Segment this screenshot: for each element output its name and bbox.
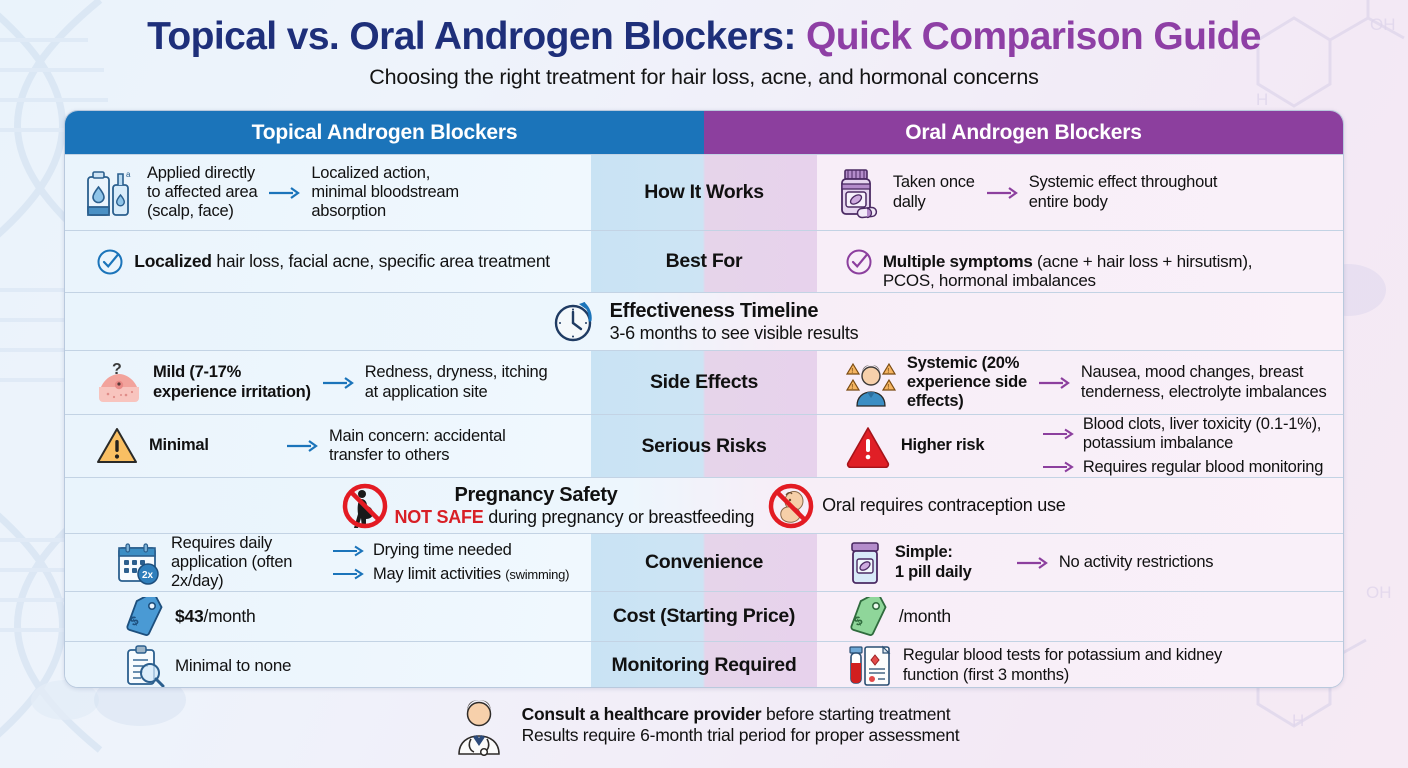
row-label-text: How It Works — [644, 181, 764, 204]
oral-best-for-bold: Multiple symptoms — [883, 252, 1033, 271]
table-row: Minimal Main concern: accidental transfe… — [65, 414, 1343, 477]
svg-text:H: H — [1256, 90, 1268, 109]
svg-text:!: ! — [887, 368, 889, 375]
danger-triangle-icon — [845, 424, 891, 468]
cell-oral-convenience: Simple: 1 pill daily No activity restric… — [817, 534, 1343, 591]
row-label-best-for: Best For — [591, 231, 817, 292]
cell-oral-side-effects: ! ! ! ! Systemic (20% experience side ef… — [817, 351, 1343, 414]
oral-cost-unit: /month — [899, 606, 951, 626]
arrow-right-icon — [1041, 460, 1075, 474]
topical-risk-b: Main concern: accidental transfer to oth… — [329, 427, 506, 466]
oral-how-step2: Systemic effect throughout entire body — [1029, 173, 1218, 212]
row-label-text: Side Effects — [650, 371, 758, 394]
oral-side-effect-a: Systemic (20% experience side effects) — [907, 354, 1027, 412]
pregnancy-title: Pregnancy Safety — [454, 484, 617, 507]
footer-note: Consult a healthcare provider before sta… — [0, 694, 1408, 756]
arrow-right-icon — [267, 184, 301, 202]
arrow-right-icon — [331, 567, 365, 581]
oral-how-step1: Taken once dally — [893, 173, 975, 212]
page-title-part2: Quick Comparison Guide — [806, 15, 1261, 58]
cell-topical-how-it-works: a Applied directly to affected area (sca… — [65, 155, 591, 230]
oral-risk-a: Higher risk — [901, 436, 1031, 455]
footer-line-1: Consult a healthcare provider before sta… — [522, 704, 960, 725]
topical-convenience-a: Requires daily application (often 2x/day… — [171, 534, 321, 592]
pill-bottle-icon — [833, 165, 883, 221]
svg-text:!: ! — [851, 368, 853, 375]
row-label-text: Serious Risks — [641, 435, 766, 458]
topical-convenience-c-note: (swimming) — [505, 567, 569, 582]
topical-convenience-c: May limit activities (swimming) — [373, 565, 569, 584]
svg-text:!: ! — [851, 384, 853, 391]
row-label-text: Cost (Starting Price) — [613, 605, 795, 628]
timeline-title: Effectiveness Timeline — [610, 300, 859, 323]
no-baby-icon — [768, 483, 814, 529]
table-header-row: Topical Androgen Blockers Oral Androgen … — [65, 111, 1343, 154]
topical-best-for-bold: Localized — [134, 251, 212, 271]
banner-effectiveness-timeline: Effectiveness Timeline 3-6 months to see… — [65, 292, 1343, 350]
arrow-right-icon — [1041, 427, 1075, 441]
timeline-subtitle: 3-6 months to see visible results — [610, 323, 859, 344]
footer-line-2: Results require 6-month trial period for… — [522, 725, 960, 746]
banner-pregnancy-safety: Pregnancy Safety NOT SAFE during pregnan… — [65, 477, 1343, 533]
table-row: $ $43/month Cost (Starting Price) $ — [65, 591, 1343, 641]
pregnancy-subtitle: NOT SAFE during pregnancy or breastfeedi… — [394, 507, 754, 528]
topical-convenience-c-main: May limit activities — [373, 565, 501, 583]
oral-side-effect-b: Nausea, mood changes, breast tenderness,… — [1081, 363, 1327, 402]
cell-oral-how-it-works: Taken once dally Systemic effect through… — [817, 155, 1343, 230]
topical-convenience-b: Drying time needed — [373, 541, 512, 560]
topical-side-effect-a: Mild (7-17% experience irritation) — [153, 363, 311, 402]
cell-topical-monitoring: Minimal to none — [65, 642, 591, 688]
svg-text:OH: OH — [1366, 583, 1392, 602]
footer-line-1-bold: Consult a healthcare provider — [522, 704, 762, 724]
topical-how-step1: Applied directly to affected area (scalp… — [147, 164, 257, 222]
topical-monitoring-text: Minimal to none — [175, 656, 291, 676]
check-circle-icon — [845, 248, 873, 276]
arrow-right-icon — [321, 374, 355, 392]
arrow-right-icon — [1015, 554, 1049, 572]
row-label-cost: Cost (Starting Price) — [591, 592, 817, 641]
table-row: Localized hair loss, facial acne, specif… — [65, 230, 1343, 292]
topical-side-effect-b: Redness, dryness, itching at application… — [365, 363, 548, 402]
arrow-right-icon — [285, 437, 319, 455]
topical-cost-text: $43/month — [175, 606, 255, 626]
row-label-serious-risks: Serious Risks — [591, 415, 817, 477]
arrow-right-icon — [331, 544, 365, 558]
no-pregnant-woman-icon — [342, 483, 388, 529]
oral-convenience-a: Simple: 1 pill daily — [895, 543, 1005, 582]
svg-text:2x: 2x — [142, 570, 154, 581]
cell-oral-serious-risks: Higher risk Blood clots, liver toxicity … — [817, 415, 1343, 477]
row-label-monitoring: Monitoring Required — [591, 642, 817, 688]
comparison-table: Topical Androgen Blockers Oral Androgen … — [64, 110, 1344, 688]
arrow-right-icon — [985, 184, 1019, 202]
pregnancy-right-text: Oral requires contraception use — [822, 495, 1065, 516]
doctor-icon — [449, 694, 509, 756]
row-label-convenience: Convenience — [591, 534, 817, 591]
oral-cost-text: /month — [899, 606, 951, 626]
row-label-text: Convenience — [645, 551, 763, 574]
row-label-side-effects: Side Effects — [591, 351, 817, 414]
cell-topical-side-effects: ? Mild (7-17% experience irritation) Red… — [65, 351, 591, 414]
blood-test-report-icon — [845, 643, 893, 689]
cell-oral-best-for: Multiple symptoms (acne + hair loss + hi… — [817, 231, 1343, 292]
row-label-text: Best For — [666, 250, 743, 273]
cell-oral-cost: $ /month — [817, 592, 1343, 641]
oral-convenience-b: No activity restrictions — [1059, 553, 1213, 572]
table-row: 2x Requires daily application (often 2x/… — [65, 533, 1343, 591]
person-warning-icon: ! ! ! ! — [845, 358, 897, 408]
svg-text:!: ! — [887, 384, 889, 391]
pregnancy-subtitle-rest: during pregnancy or breastfeeding — [483, 507, 754, 527]
irritated-skin-icon: ? — [95, 361, 143, 405]
oral-risk-b: Blood clots, liver toxicity (0.1-1%), po… — [1083, 415, 1321, 454]
calendar-2x-icon: 2x — [115, 541, 161, 585]
page-title-part1: Topical vs. Oral Androgen Blockers: — [147, 15, 796, 58]
table-row: Minimal to none Monitoring Required — [65, 641, 1343, 688]
svg-text:a: a — [126, 170, 131, 179]
price-tag-blue-icon: $ — [121, 597, 165, 637]
cell-topical-best-for: Localized hair loss, facial acne, specif… — [65, 231, 591, 292]
cell-oral-monitoring: Regular blood tests for potassium and ki… — [817, 642, 1343, 688]
column-header-oral: Oral Androgen Blockers — [704, 111, 1343, 154]
check-circle-icon — [96, 248, 124, 276]
price-tag-green-icon: $ — [845, 597, 889, 637]
warning-triangle-icon — [95, 424, 139, 468]
cream-tube-dropper-icon: a — [81, 165, 137, 221]
topical-risk-a: Minimal — [149, 436, 275, 455]
topical-cost-unit: /month — [203, 606, 255, 626]
oral-risk-c: Requires regular blood monitoring — [1083, 458, 1323, 477]
oral-monitoring-text: Regular blood tests for potassium and ki… — [903, 646, 1222, 685]
page-subtitle: Choosing the right treatment for hair lo… — [0, 65, 1408, 90]
clipboard-magnifier-icon — [121, 644, 165, 688]
table-row: a Applied directly to affected area (sca… — [65, 154, 1343, 230]
topical-best-for-rest: hair loss, facial acne, specific area tr… — [212, 251, 550, 271]
svg-text:?: ? — [112, 361, 122, 378]
clock-rotate-icon — [550, 298, 598, 346]
page-title: Topical vs. Oral Androgen Blockers: Quic… — [0, 17, 1408, 58]
cell-topical-convenience: 2x Requires daily application (often 2x/… — [65, 534, 591, 591]
table-row: ? Mild (7-17% experience irritation) Red… — [65, 350, 1343, 414]
row-label-text: Monitoring Required — [612, 654, 797, 677]
arrow-right-icon — [1037, 374, 1071, 392]
cell-topical-serious-risks: Minimal Main concern: accidental transfe… — [65, 415, 591, 477]
not-safe-badge: NOT SAFE — [394, 507, 483, 527]
topical-cost-amount: $43 — [175, 606, 203, 626]
cell-topical-cost: $ $43/month — [65, 592, 591, 641]
page-header: Topical vs. Oral Androgen Blockers: Quic… — [0, 0, 1408, 90]
pill-jar-icon — [845, 539, 885, 587]
row-label-how-it-works: How It Works — [591, 155, 817, 230]
footer-line-1-rest: before starting treatment — [761, 704, 950, 724]
column-header-topical: Topical Androgen Blockers — [65, 111, 704, 154]
topical-how-step2: Localized action, minimal bloodstream ab… — [311, 164, 458, 222]
